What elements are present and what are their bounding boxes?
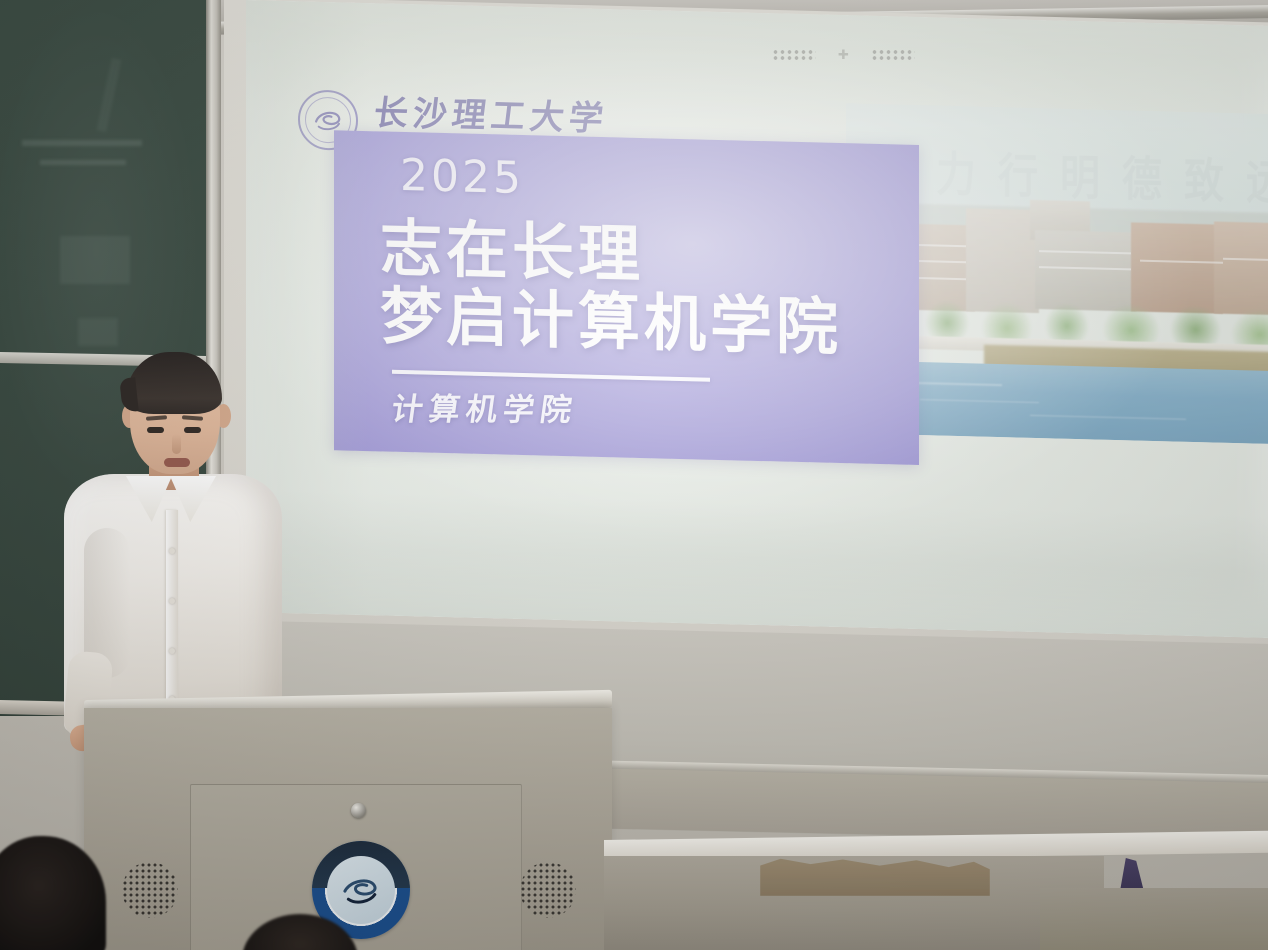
ceiling-speaker-grille: ✚ [772, 48, 915, 61]
university-name-cn: 长沙理工大学 [372, 96, 677, 138]
title-divider [392, 370, 710, 382]
lecture-hall-photo: 长沙理工大学 CHANGSHA UNIVERSITY OF SCIENCE & … [0, 0, 1268, 950]
slide-title-line-2: 梦启计算机学院 [380, 285, 842, 359]
podium-speaker-grille [520, 862, 576, 918]
front-desk-right [1040, 888, 1268, 950]
presenter-hair [126, 352, 222, 414]
slide-title-line-1: 志在长理 [380, 217, 644, 286]
slide-year: 2025 [400, 154, 524, 201]
podium-speaker-grille [122, 862, 178, 918]
projection-screen: 长沙理工大学 CHANGSHA UNIVERSITY OF SCIENCE & … [246, 0, 1268, 638]
slide-department: 计算机学院 [389, 390, 580, 431]
cabinet-lock-icon[interactable] [351, 803, 366, 818]
slide-title-panel: 2025 志在长理 梦启计算机学院 计算机学院 [334, 130, 919, 465]
